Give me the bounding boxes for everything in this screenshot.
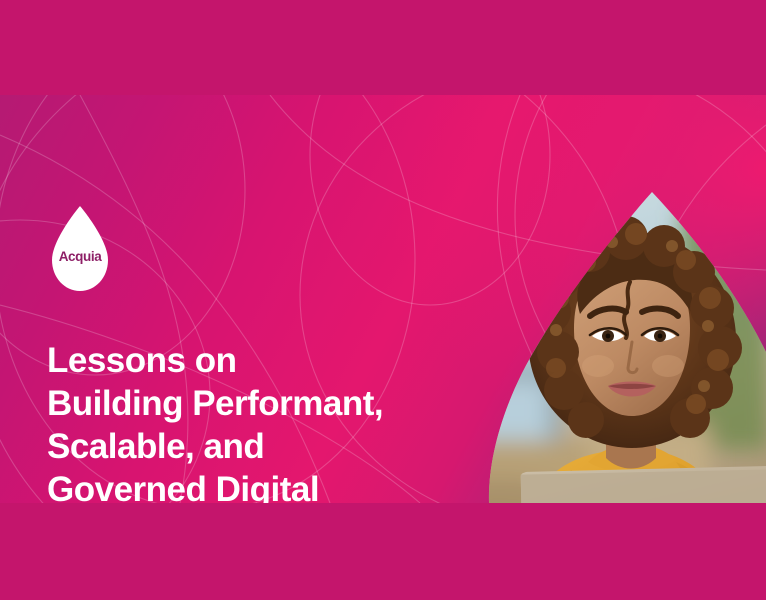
headline-line-1: Lessons on	[47, 339, 477, 382]
acquia-wordmark: Acquia	[47, 249, 113, 264]
acquia-logo[interactable]: Acquia	[47, 205, 113, 293]
banner-panel: Acquia Lessons on Building Performant, S…	[0, 95, 766, 503]
headline-line-2: Building Performant,	[47, 382, 477, 425]
hero-photo	[440, 190, 766, 503]
headline-line-4: Governed Digital	[47, 468, 477, 503]
page-title: Lessons on Building Performant, Scalable…	[47, 339, 477, 503]
hero-photo-droplet-mask	[440, 190, 766, 503]
acquia-hero-banner: Acquia Lessons on Building Performant, S…	[0, 0, 766, 600]
headline-line-3: Scalable, and	[47, 425, 477, 468]
